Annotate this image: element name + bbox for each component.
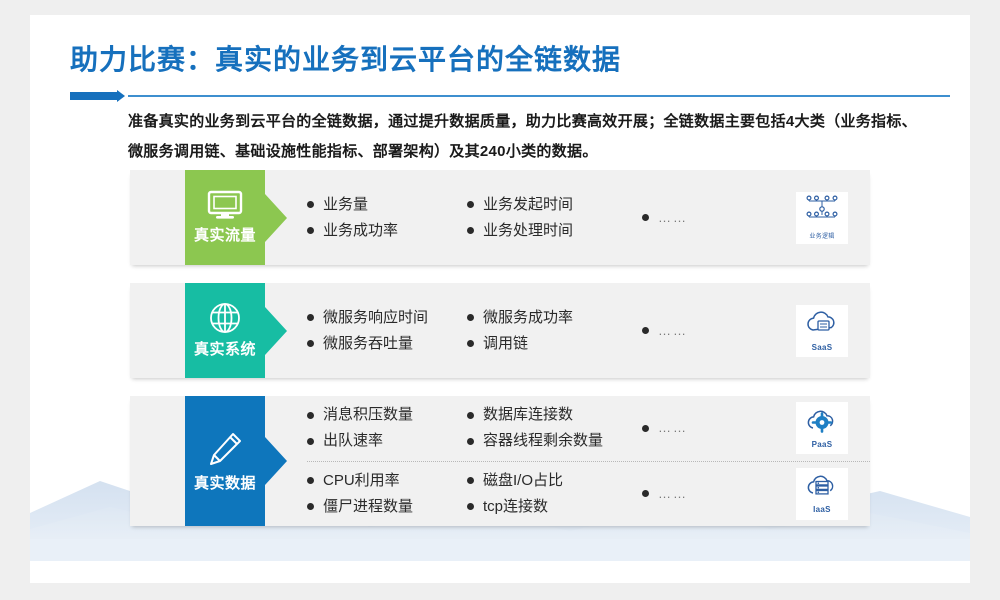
tile-caption: SaaS bbox=[812, 343, 833, 352]
metric-label: 业务量 bbox=[323, 195, 368, 215]
metric-column-more: …… bbox=[642, 208, 752, 228]
list-item: 容器线程剩余数量 bbox=[467, 431, 642, 451]
metric-column-2: 业务发起时间 业务处理时间 bbox=[467, 195, 642, 241]
metric-label: CPU利用率 bbox=[323, 471, 400, 491]
bullet-icon bbox=[642, 214, 649, 221]
tile-iaas: IaaS bbox=[796, 468, 848, 520]
globe-icon bbox=[209, 302, 241, 334]
bullet-icon bbox=[467, 477, 474, 484]
tile-saas: SaaS bbox=[796, 305, 848, 357]
badge-traffic[interactable]: 真实流量 bbox=[185, 170, 265, 265]
bullet-icon bbox=[467, 227, 474, 234]
bullet-icon bbox=[307, 438, 314, 445]
bullet-icon bbox=[467, 314, 474, 321]
list-item: 微服务响应时间 bbox=[307, 308, 467, 328]
bullet-icon bbox=[467, 340, 474, 347]
subrow: 业务量 业务成功率 业务发起时间 业务处理时间 …… bbox=[307, 170, 870, 265]
pencil-icon bbox=[206, 430, 244, 468]
tile-caption: PaaS bbox=[812, 440, 833, 449]
metric-column-more: …… bbox=[642, 484, 752, 504]
row-content: 微服务响应时间 微服务吞吐量 微服务成功率 调用链 …… bbox=[265, 283, 870, 378]
row-left-spacer bbox=[130, 283, 185, 378]
metric-column-2: 数据库连接数 容器线程剩余数量 bbox=[467, 405, 642, 451]
page-title: 助力比赛：真实的业务到云平台的全链数据 bbox=[70, 43, 950, 77]
more-label: …… bbox=[658, 208, 688, 228]
metric-label: 磁盘I/O占比 bbox=[483, 471, 563, 491]
more-label: …… bbox=[658, 484, 688, 504]
slide-canvas: 助力比赛：真实的业务到云平台的全链数据 准备真实的业务到云平台的全链数据，通过提… bbox=[30, 15, 970, 583]
list-item: 调用链 bbox=[467, 334, 642, 354]
metric-label: tcp连接数 bbox=[483, 497, 548, 517]
bullet-icon bbox=[467, 438, 474, 445]
list-item-more: …… bbox=[642, 418, 752, 438]
metric-label: 微服务响应时间 bbox=[323, 308, 428, 328]
list-item: 消息积压数量 bbox=[307, 405, 467, 425]
more-label: …… bbox=[658, 321, 688, 341]
metric-label: 消息积压数量 bbox=[323, 405, 413, 425]
bullet-icon bbox=[467, 201, 474, 208]
category-row-traffic: 真实流量 业务量 业务成功率 业务发起时间 业务处理时间 …… bbox=[130, 170, 870, 265]
list-item: 数据库连接数 bbox=[467, 405, 642, 425]
bullet-icon bbox=[307, 412, 314, 419]
category-rows: 真实流量 业务量 业务成功率 业务发起时间 业务处理时间 …… bbox=[130, 170, 870, 544]
badge-label: 真实系统 bbox=[194, 338, 256, 359]
metric-column-1: 业务量 业务成功率 bbox=[307, 195, 467, 241]
bullet-icon bbox=[642, 490, 649, 497]
metric-label: 微服务成功率 bbox=[483, 308, 573, 328]
row-content: 消息积压数量 出队速率 数据库连接数 容器线程剩余数量 …… bbox=[265, 396, 870, 526]
bullet-icon bbox=[642, 425, 649, 432]
badge-data[interactable]: 真实数据 bbox=[185, 396, 265, 526]
bullet-icon bbox=[307, 227, 314, 234]
row-left-spacer bbox=[130, 170, 185, 265]
metric-column-1: CPU利用率 僵尸进程数量 bbox=[307, 471, 467, 517]
metric-column-1: 消息积压数量 出队速率 bbox=[307, 405, 467, 451]
subrow: CPU利用率 僵尸进程数量 磁盘I/O占比 tcp连接数 …… bbox=[307, 461, 870, 527]
list-item: 磁盘I/O占比 bbox=[467, 471, 642, 491]
metric-label: 业务发起时间 bbox=[483, 195, 573, 215]
list-item: 业务成功率 bbox=[307, 221, 467, 241]
metric-label: 微服务吞吐量 bbox=[323, 334, 413, 354]
list-item-more: …… bbox=[642, 208, 752, 228]
list-item: CPU利用率 bbox=[307, 471, 467, 491]
title-rule bbox=[70, 89, 950, 101]
list-item: 微服务成功率 bbox=[467, 308, 642, 328]
metric-label: 出队速率 bbox=[323, 431, 383, 451]
list-item: tcp连接数 bbox=[467, 497, 642, 517]
list-item-more: …… bbox=[642, 321, 752, 341]
metric-column-more: …… bbox=[642, 418, 752, 438]
metric-column-1: 微服务响应时间 微服务吞吐量 bbox=[307, 308, 467, 354]
metric-column-2: 微服务成功率 调用链 bbox=[467, 308, 642, 354]
list-item: 出队速率 bbox=[307, 431, 467, 451]
metric-label: 业务成功率 bbox=[323, 221, 398, 241]
bullet-icon bbox=[642, 327, 649, 334]
intro-paragraph: 准备真实的业务到云平台的全链数据，通过提升数据质量，助力比赛高效开展；全链数据主… bbox=[128, 107, 918, 167]
bullet-icon bbox=[307, 314, 314, 321]
title-divider-line bbox=[128, 95, 950, 97]
row-content: 业务量 业务成功率 业务发起时间 业务处理时间 …… bbox=[265, 170, 870, 265]
subrow: 微服务响应时间 微服务吞吐量 微服务成功率 调用链 …… bbox=[307, 283, 870, 378]
org-tree-icon bbox=[805, 195, 839, 230]
bullet-icon bbox=[307, 503, 314, 510]
badge-system[interactable]: 真实系统 bbox=[185, 283, 265, 378]
bullet-icon bbox=[307, 201, 314, 208]
monitor-icon bbox=[207, 190, 243, 220]
tile-caption: 业务逻辑 bbox=[809, 231, 834, 240]
cloud-gear-icon bbox=[805, 408, 839, 439]
bullet-icon bbox=[307, 477, 314, 484]
metric-label: 僵尸进程数量 bbox=[323, 497, 413, 517]
list-item: 微服务吞吐量 bbox=[307, 334, 467, 354]
title-block: 助力比赛：真实的业务到云平台的全链数据 bbox=[70, 43, 950, 101]
tile-paas: PaaS bbox=[796, 402, 848, 454]
subrow: 消息积压数量 出队速率 数据库连接数 容器线程剩余数量 …… bbox=[307, 396, 870, 461]
metric-label: 业务处理时间 bbox=[483, 221, 573, 241]
bullet-icon bbox=[307, 340, 314, 347]
metric-column-more: …… bbox=[642, 321, 752, 341]
cloud-server-icon bbox=[805, 473, 839, 504]
category-row-system: 真实系统 微服务响应时间 微服务吞吐量 微服务成功率 调用链 …… bbox=[130, 283, 870, 378]
metric-label: 数据库连接数 bbox=[483, 405, 573, 425]
badge-label: 真实数据 bbox=[194, 472, 256, 493]
list-item: 业务发起时间 bbox=[467, 195, 642, 215]
tile-caption: IaaS bbox=[813, 505, 831, 514]
arrow-bar-icon bbox=[70, 92, 118, 100]
row-left-spacer bbox=[130, 396, 185, 526]
cloud-saas-icon bbox=[805, 309, 839, 342]
more-label: …… bbox=[658, 418, 688, 438]
list-item: 僵尸进程数量 bbox=[307, 497, 467, 517]
list-item: 业务处理时间 bbox=[467, 221, 642, 241]
metric-column-2: 磁盘I/O占比 tcp连接数 bbox=[467, 471, 642, 517]
bullet-icon bbox=[467, 503, 474, 510]
list-item-more: …… bbox=[642, 484, 752, 504]
category-row-data: 真实数据 消息积压数量 出队速率 数据库连接数 容器线程剩余数量 …… bbox=[130, 396, 870, 526]
tile-business-logic: 业务逻辑 bbox=[796, 192, 848, 244]
metric-label: 调用链 bbox=[483, 334, 528, 354]
bullet-icon bbox=[467, 412, 474, 419]
badge-label: 真实流量 bbox=[194, 224, 256, 245]
metric-label: 容器线程剩余数量 bbox=[483, 431, 603, 451]
list-item: 业务量 bbox=[307, 195, 467, 215]
